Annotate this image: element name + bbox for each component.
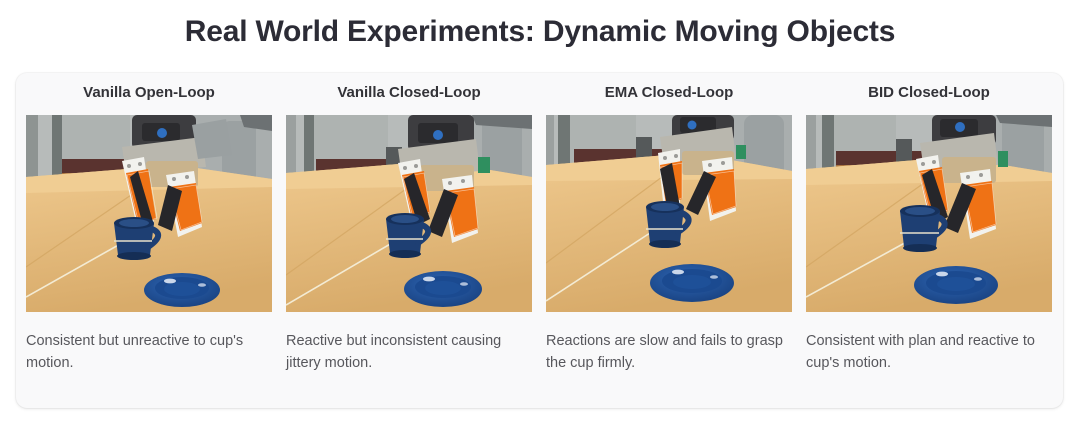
experiment-image-vanilla-open-loop[interactable] — [26, 115, 272, 312]
column-caption: Consistent with plan and reactive to cup… — [806, 330, 1046, 374]
result-column-vanilla-closed-loop: Vanilla Closed-Loop — [286, 83, 532, 398]
robot-scene-illustration — [546, 115, 792, 312]
column-header: EMA Closed-Loop — [546, 83, 792, 103]
page-title: Real World Experiments: Dynamic Moving O… — [0, 14, 1080, 50]
column-caption: Reactive but inconsistent causing jitter… — [286, 330, 526, 374]
robot-scene-illustration — [806, 115, 1052, 312]
column-caption: Consistent but unreactive to cup's motio… — [26, 330, 266, 374]
result-column-vanilla-open-loop: Vanilla Open-Loop — [26, 83, 272, 398]
experiment-image-bid-closed-loop[interactable] — [806, 115, 1052, 312]
column-caption: Reactions are slow and fails to grasp th… — [546, 330, 786, 374]
results-card: Vanilla Open-Loop — [16, 73, 1063, 408]
column-header: Vanilla Closed-Loop — [286, 83, 532, 103]
robot-scene-illustration — [26, 115, 272, 312]
experiment-image-vanilla-closed-loop[interactable] — [286, 115, 532, 312]
experiment-image-ema-closed-loop[interactable] — [546, 115, 792, 312]
results-grid: Vanilla Open-Loop — [26, 83, 1052, 398]
result-column-ema-closed-loop: EMA Closed-Loop — [546, 83, 792, 398]
result-column-bid-closed-loop: BID Closed-Loop — [806, 83, 1052, 398]
robot-scene-illustration — [286, 115, 532, 312]
experiments-figure: Real World Experiments: Dynamic Moving O… — [0, 0, 1080, 427]
column-header: Vanilla Open-Loop — [26, 83, 272, 103]
column-header: BID Closed-Loop — [806, 83, 1052, 103]
